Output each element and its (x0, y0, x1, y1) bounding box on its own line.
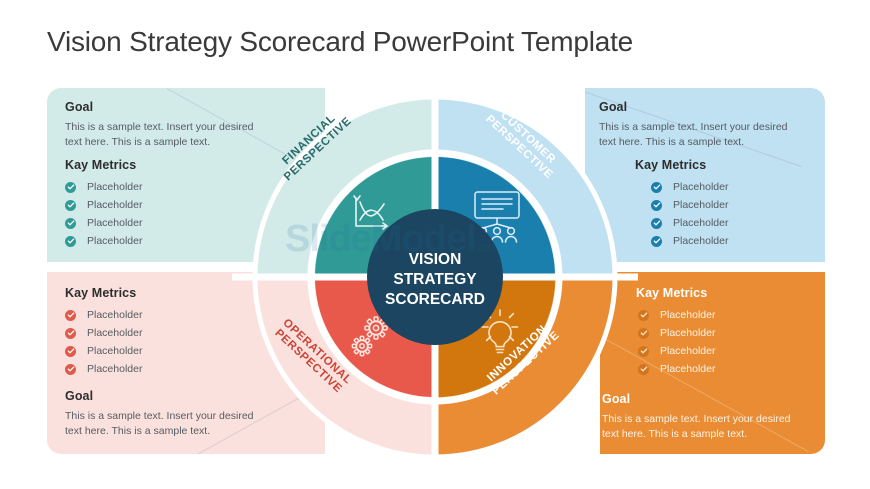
list-item[interactable]: Placeholder (65, 232, 142, 250)
list-item-label: Placeholder (87, 363, 142, 375)
customer-metrics-list: Placeholder Placeholder Placeholder Plac… (651, 178, 728, 250)
list-item-label: Placeholder (660, 327, 715, 339)
check-circle-icon (638, 364, 649, 375)
check-circle-icon (65, 364, 76, 375)
check-circle-icon (651, 218, 662, 229)
list-item[interactable]: Placeholder (638, 324, 715, 342)
check-circle-icon (65, 182, 76, 193)
list-item[interactable]: Placeholder (65, 196, 142, 214)
check-circle-icon (65, 328, 76, 339)
check-circle-icon (65, 236, 76, 247)
scorecard-diagram: VISION STRATEGY SCORECARD FINANCIAL PERS… (232, 74, 638, 480)
diagram-svg: VISION STRATEGY SCORECARD (232, 74, 638, 480)
check-circle-icon (65, 200, 76, 211)
page-title: Vision Strategy Scorecard PowerPoint Tem… (47, 26, 633, 58)
check-circle-icon (65, 218, 76, 229)
list-item-label: Placeholder (87, 199, 142, 211)
list-item[interactable]: Placeholder (65, 360, 142, 378)
list-item[interactable]: Placeholder (638, 306, 715, 324)
list-item[interactable]: Placeholder (638, 342, 715, 360)
list-item-label: Placeholder (87, 345, 142, 357)
slide-canvas: Vision Strategy Scorecard PowerPoint Tem… (0, 0, 870, 489)
check-circle-icon (638, 310, 649, 321)
list-item-label: Placeholder (87, 309, 142, 321)
check-circle-icon (651, 182, 662, 193)
list-item[interactable]: Placeholder (65, 306, 142, 324)
list-item[interactable]: Placeholder (651, 196, 728, 214)
list-item[interactable]: Placeholder (65, 342, 142, 360)
check-circle-icon (651, 200, 662, 211)
list-item[interactable]: Placeholder (651, 214, 728, 232)
center-line-2: STRATEGY (393, 271, 477, 288)
check-circle-icon (65, 346, 76, 357)
list-item-label: Placeholder (87, 327, 142, 339)
list-item-label: Placeholder (673, 199, 728, 211)
list-item[interactable]: Placeholder (65, 324, 142, 342)
list-item-label: Placeholder (660, 345, 715, 357)
financial-metrics-list: Placeholder Placeholder Placeholder Plac… (65, 178, 142, 250)
list-item[interactable]: Placeholder (638, 360, 715, 378)
list-item-label: Placeholder (87, 181, 142, 193)
list-item-label: Placeholder (673, 235, 728, 247)
operational-metrics-list: Placeholder Placeholder Placeholder Plac… (65, 306, 142, 378)
list-item-label: Placeholder (673, 217, 728, 229)
innovation-metrics-list: Placeholder Placeholder Placeholder Plac… (638, 306, 715, 378)
customer-metrics-heading: Kay Metrics (635, 158, 728, 172)
list-item-label: Placeholder (660, 309, 715, 321)
list-item-label: Placeholder (87, 217, 142, 229)
financial-metrics-heading: Kay Metrics (65, 158, 142, 172)
operational-metrics-heading: Kay Metrics (65, 286, 142, 300)
list-item-label: Placeholder (660, 363, 715, 375)
check-circle-icon (65, 310, 76, 321)
list-item-label: Placeholder (673, 181, 728, 193)
center-line-1: VISION (409, 251, 462, 268)
check-circle-icon (638, 346, 649, 357)
check-circle-icon (651, 236, 662, 247)
list-item[interactable]: Placeholder (65, 178, 142, 196)
list-item[interactable]: Placeholder (651, 178, 728, 196)
center-line-3: SCORECARD (385, 291, 485, 308)
list-item[interactable]: Placeholder (65, 214, 142, 232)
check-circle-icon (638, 328, 649, 339)
list-item-label: Placeholder (87, 235, 142, 247)
innovation-metrics-heading: Kay Metrics (636, 286, 715, 300)
list-item[interactable]: Placeholder (651, 232, 728, 250)
